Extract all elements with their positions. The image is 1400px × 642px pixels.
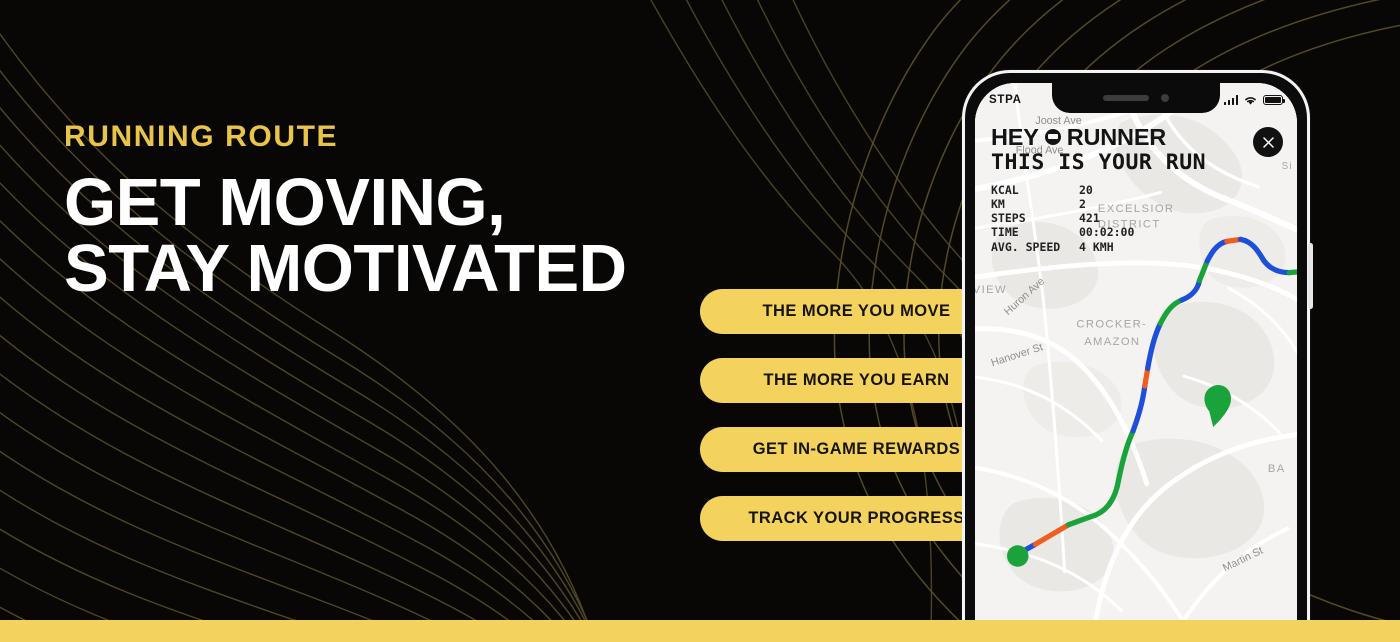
battery-icon [1263,95,1283,105]
earpiece-speaker [1103,95,1149,101]
stat-value: 2 [1079,197,1086,211]
phone-notch [1052,83,1220,113]
stat-value: 4 KMH [1079,240,1114,254]
greeting-prefix: HEY [991,125,1039,150]
stat-row-km: KM 2 [991,197,1281,211]
stat-label: KM [991,197,1079,211]
hero-copy: RUNNING ROUTE GET MOVING, STAY MOTIVATED [64,122,684,303]
pill-label: GET IN-GAME REWARDS [753,440,960,459]
pill-label: THE MORE YOU MOVE [763,302,951,321]
stat-row-avg-speed: AVG. SPEED 4 KMH [991,240,1281,254]
page-title: GET MOVING, STAY MOTIVATED [64,170,684,303]
wifi-icon [1243,95,1258,106]
phone-screen: GLEN PARK EXCELSIOR DISTRICT CROCKER- AM… [975,83,1297,642]
stat-value: 421 [1079,211,1100,225]
stat-row-kcal: KCAL 20 [991,183,1281,197]
power-button[interactable] [1308,243,1313,309]
stat-label: TIME [991,225,1079,239]
stat-label: STEPS [991,211,1079,225]
run-stats-list: KCAL 20 KM 2 STEPS 421 TIME 00:02:00 [991,183,1281,254]
run-summary-header: HEY RUNNER THIS IS YOUR RUN KCAL 20 KM 2 [975,113,1297,254]
bottom-accent-bar [0,620,1400,642]
eyebrow-label: RUNNING ROUTE [64,122,684,152]
pill-label: THE MORE YOU EARN [763,371,949,390]
map-label-view: VIEW [975,284,1007,296]
phone-mockup: GLEN PARK EXCELSIOR DISTRICT CROCKER- AM… [962,70,1310,642]
face-emoji-icon [1045,129,1061,145]
carrier-label: STPA [989,94,1022,106]
greeting-suffix: RUNNER [1067,125,1166,150]
map-label-ba: BA [1268,463,1286,475]
stat-row-steps: STEPS 421 [991,211,1281,225]
stat-row-time: TIME 00:02:00 [991,225,1281,239]
map-label-crocker: CROCKER- [1076,318,1147,330]
stat-label: AVG. SPEED [991,240,1079,254]
stat-label: KCAL [991,183,1079,197]
close-icon [1262,136,1275,149]
promo-banner: RUNNING ROUTE GET MOVING, STAY MOTIVATED… [0,0,1400,642]
run-subtitle: THIS IS YOUR RUN [991,151,1281,175]
signal-bars-icon [1224,95,1239,105]
greeting-line: HEY RUNNER [991,125,1281,150]
pill-label: TRACK YOUR PROGRESS [748,509,964,528]
close-button[interactable] [1253,127,1283,157]
stat-value: 00:02:00 [1079,225,1134,239]
stat-value: 20 [1079,183,1093,197]
front-camera [1161,94,1169,102]
map-label-amazon: AMAZON [1084,336,1140,348]
